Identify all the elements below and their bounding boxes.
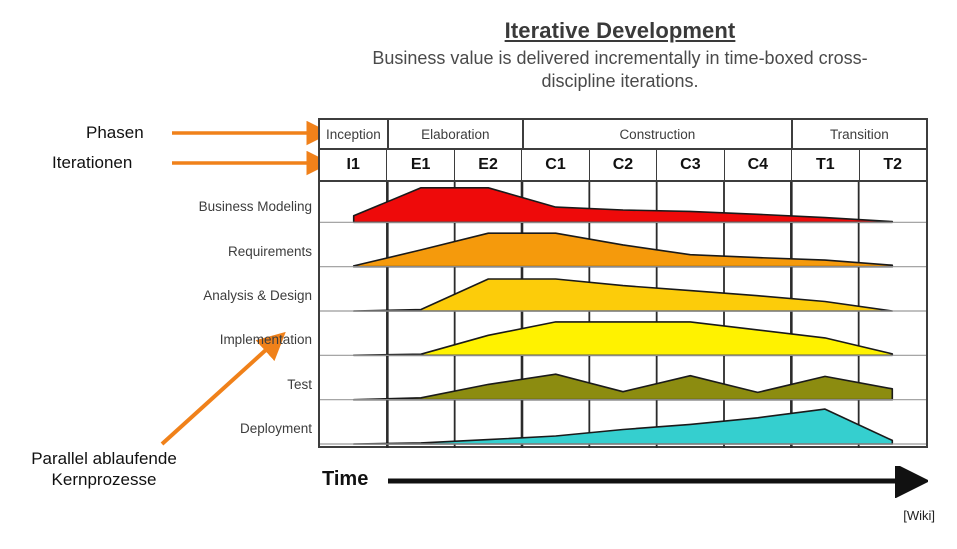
area-implementation [354,322,893,355]
hump-chart: InceptionElaborationConstructionTransiti… [318,118,928,448]
area-requirements [354,233,893,267]
iteration-cell-t1: T1 [792,150,859,180]
iteration-cell-c4: C4 [725,150,792,180]
phase-cell-inception: Inception [320,120,389,148]
phase-cell-construction: Construction [524,120,793,148]
annotation-parallel-kernprozesse: Parallel ablaufende Kernprozesse [4,448,204,491]
discipline-label-deployment: Deployment [240,421,312,436]
page-subtitle: Business value is delivered incrementall… [340,47,900,92]
iteration-cell-t2: T2 [860,150,926,180]
title-block: Iterative Development Business value is … [340,18,900,92]
page-title: Iterative Development [340,18,900,43]
area-business-modeling [354,188,893,223]
area-test [354,374,893,400]
iteration-cell-c2: C2 [590,150,657,180]
phase-header-row: InceptionElaborationConstructionTransiti… [320,120,926,150]
discipline-label-test: Test [287,377,312,392]
iteration-header-row: I1E1E2C1C2C3C4T1T2 [320,150,926,182]
area-analysis-design [354,279,893,311]
time-arrow-icon [388,466,928,498]
annotation-phasen: Phasen [86,123,144,143]
annotation-iterationen: Iterationen [52,153,132,173]
discipline-label-business-modeling: Business Modeling [199,199,312,214]
phase-cell-transition: Transition [793,120,926,148]
plot-area [320,182,926,448]
iteration-cell-e2: E2 [455,150,522,180]
time-axis-label: Time [322,468,368,491]
phase-cell-elaboration: Elaboration [389,120,524,148]
discipline-label-list: Business ModelingRequirementsAnalysis & … [140,186,312,436]
discipline-label-analysis-design: Analysis & Design [203,288,312,303]
area-deployment [354,409,893,444]
iteration-cell-c3: C3 [657,150,724,180]
attribution-label: [Wiki] [903,508,935,523]
time-axis: Time [318,466,928,500]
discipline-areas [320,182,926,448]
discipline-label-implementation: Implementation [220,332,312,347]
iteration-cell-e1: E1 [387,150,454,180]
discipline-label-requirements: Requirements [228,244,312,259]
iteration-cell-c1: C1 [522,150,589,180]
iteration-cell-i1: I1 [320,150,387,180]
